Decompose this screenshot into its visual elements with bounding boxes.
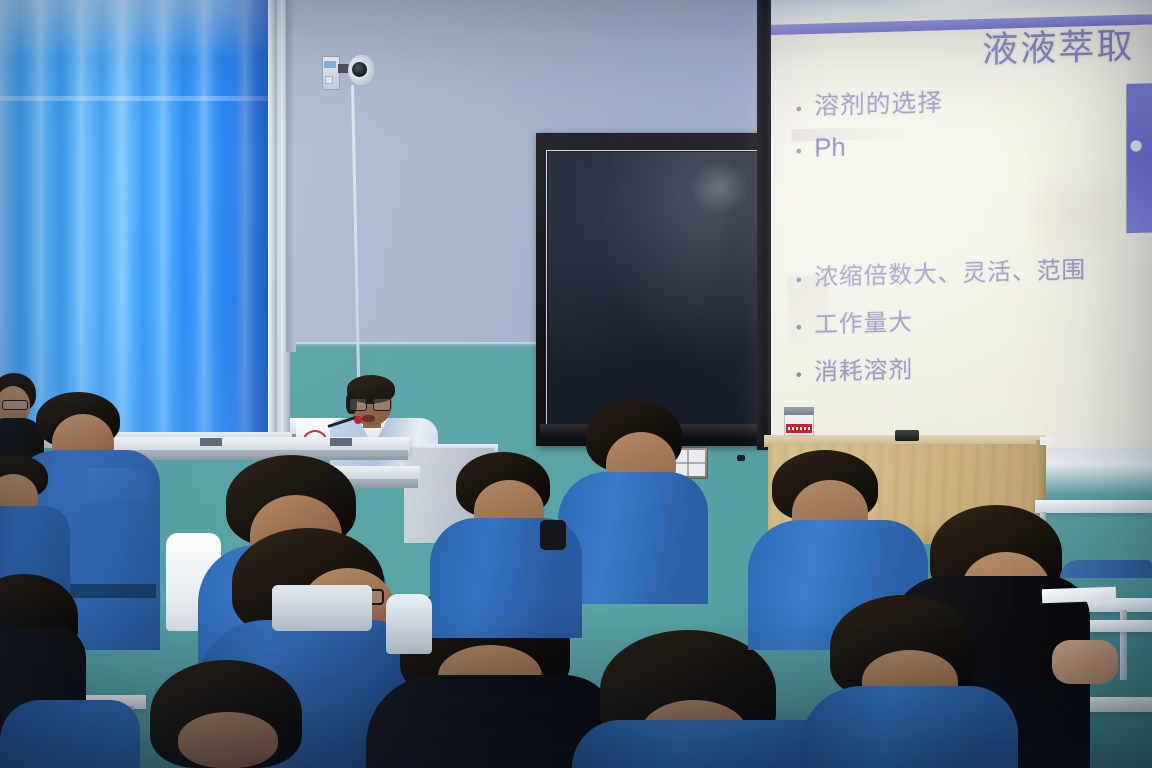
slide-bullet: • 消耗溶剂 xyxy=(796,342,1152,387)
bullet-dot-icon: • xyxy=(796,142,802,160)
chair-back xyxy=(272,585,372,631)
chair-back xyxy=(386,594,432,654)
bullet-dot-icon: • xyxy=(796,319,802,337)
bullet-text: 工作量大 xyxy=(814,302,913,340)
blackboard-eraser[interactable] xyxy=(895,430,919,441)
blackboard-inner-trim xyxy=(546,150,772,428)
desk-clip xyxy=(330,438,352,446)
slide-bullet: • 工作量大 xyxy=(796,295,1152,340)
chalk-box-lid xyxy=(784,407,814,415)
camera-status-led xyxy=(324,61,336,68)
bullet-text: 消耗溶剂 xyxy=(814,349,913,387)
desk-clip xyxy=(200,438,222,446)
student-arm xyxy=(1052,640,1118,684)
slide-bullet-group-b: • 浓缩倍数大、灵活、范围 • 工作量大 • 消耗溶剂 xyxy=(796,248,1152,400)
chalk-box-label xyxy=(786,424,812,433)
slide-bullet: • Ph xyxy=(796,124,1152,164)
camera-lens-icon xyxy=(352,62,367,77)
slide-bullet-group-a: • 溶剂的选择 • Ph xyxy=(796,76,1152,177)
student-head xyxy=(178,712,278,768)
desk-microphone-head[interactable] xyxy=(354,416,362,424)
window-mullion xyxy=(268,0,277,448)
wall-socket-icon xyxy=(737,455,745,461)
lectern-side-shelf xyxy=(1040,437,1054,445)
student-shoulder xyxy=(88,468,150,502)
paper-sheet xyxy=(1042,587,1116,604)
bullet-dot-icon: • xyxy=(796,366,802,384)
curtain-fold-shadow xyxy=(228,0,272,448)
student-phone-icon xyxy=(540,520,566,550)
presenter-glasses-bridge xyxy=(365,402,375,404)
student-shoulder-bottomleft xyxy=(0,700,140,768)
student-torso xyxy=(800,686,1018,768)
chair-back-blue xyxy=(1060,560,1152,578)
classroom-photo: 液液萃取 • 溶剂的选择 • Ph • 浓缩倍数大、灵活、范围 • xyxy=(0,0,1152,768)
bullet-text: 溶剂的选择 xyxy=(814,82,943,122)
presenter-mouth xyxy=(362,415,375,422)
bullet-text: Ph xyxy=(814,133,846,164)
slide-title: 液液萃取 xyxy=(982,15,1152,73)
student-glasses-icon xyxy=(2,400,28,410)
bullet-dot-icon: • xyxy=(796,271,802,289)
bullet-text: 浓缩倍数大、灵活、范围 xyxy=(814,250,1086,293)
projection-screen: 液液萃取 • 溶剂的选择 • Ph • 浓缩倍数大、灵活、范围 • xyxy=(771,0,1152,448)
wall-pier xyxy=(286,0,296,352)
camera-button[interactable] xyxy=(325,76,333,84)
projected-slide: 液液萃取 • 溶剂的选择 • Ph • 浓缩倍数大、灵活、范围 • xyxy=(771,0,1152,448)
projection-screen-post xyxy=(757,0,771,450)
bullet-dot-icon: • xyxy=(796,100,802,118)
desk-row-right-1 xyxy=(1035,500,1152,513)
